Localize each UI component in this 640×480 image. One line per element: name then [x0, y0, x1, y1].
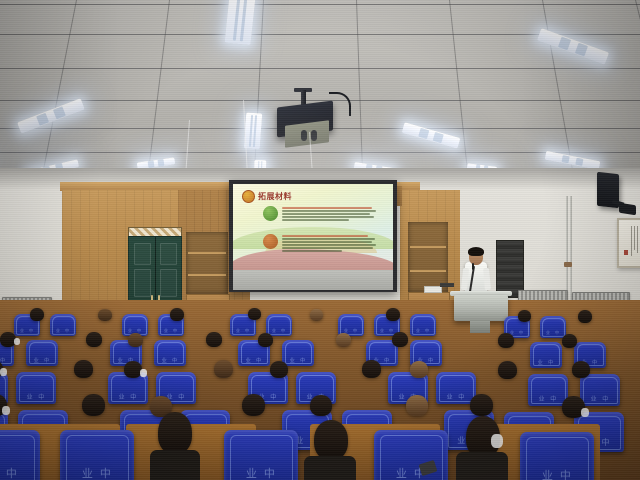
projection-screen-lower — [233, 270, 393, 290]
wall-shelf-niche — [408, 222, 448, 292]
attendee-head — [258, 333, 273, 347]
attendee-head — [310, 309, 323, 321]
attendee-head — [98, 309, 112, 321]
shelf-board — [188, 274, 226, 276]
attendee-torso — [304, 456, 356, 480]
face-mask-icon — [2, 406, 10, 415]
seat-row-front: 业 中 业 中 业 中 业 中 业 中 — [0, 418, 640, 480]
attendee-head — [128, 333, 143, 347]
red-seal-icon — [242, 190, 255, 203]
attendee-head — [572, 361, 590, 378]
seat-embroidery: 业 中 — [374, 465, 448, 480]
attendee-head — [498, 361, 517, 379]
attendee-head — [74, 360, 93, 378]
slide-title: 拓展材料 — [258, 191, 292, 202]
green-circle-icon — [263, 206, 278, 221]
attendee-head — [498, 333, 514, 348]
seat-embroidery: 业 中 — [224, 465, 298, 480]
attendee-head — [158, 412, 192, 454]
seat-embroidery: 业 中 — [60, 465, 134, 480]
door-panel — [160, 243, 177, 265]
attendee-head — [392, 332, 408, 347]
shelf-board — [410, 246, 446, 248]
attendee-head — [386, 308, 400, 321]
attendee-head — [470, 394, 493, 416]
slide-bullet-block — [263, 206, 381, 221]
attendee-head — [578, 310, 592, 323]
seat-embroidery: 业 中 — [0, 465, 40, 480]
attendee-head — [562, 334, 577, 348]
auditorium-seat[interactable]: 业 中 — [60, 430, 134, 480]
shelf-object — [440, 283, 454, 287]
projection-screen: 拓展材料 — [233, 184, 393, 270]
face-mask-icon — [581, 408, 589, 417]
attendee-head — [82, 394, 105, 416]
face-mask-icon — [491, 434, 503, 448]
door-panel — [160, 269, 177, 297]
shelf-box — [424, 286, 442, 293]
slide-bullet-block — [263, 234, 381, 252]
attendee-head — [518, 310, 531, 322]
framed-poster — [617, 218, 640, 268]
door-panel — [134, 269, 151, 297]
attendee-head — [206, 332, 222, 347]
poster-text-line — [631, 226, 632, 256]
pipe-valve — [564, 262, 572, 267]
attendee-torso — [150, 450, 200, 480]
attendee-torso — [456, 452, 508, 480]
poster-seal — [624, 250, 628, 255]
presenter-hair — [468, 247, 484, 256]
poster-text-line — [637, 226, 638, 253]
attendee-head — [30, 308, 44, 321]
auditorium-seat[interactable]: 业 中 — [374, 430, 448, 480]
attendee-head — [86, 332, 102, 347]
auditorium-seat[interactable]: 业 中 — [520, 432, 594, 480]
slide-title-row: 拓展材料 — [242, 190, 292, 203]
suspended-ceiling — [0, 0, 640, 176]
attendee-head — [310, 395, 332, 416]
attendee-head — [242, 394, 265, 416]
attendee-head — [362, 360, 381, 378]
attendee-head — [314, 420, 348, 460]
microphone-icon — [472, 263, 474, 270]
face-mask-icon — [140, 369, 147, 377]
attendee-head — [214, 360, 233, 378]
attendee-head — [248, 308, 261, 320]
attendee-head — [170, 308, 184, 321]
seat-embroidery: 业 中 — [520, 467, 594, 480]
attendee-head — [410, 361, 428, 378]
lecture-hall-photo: 拓展材料 — [0, 0, 640, 480]
wall-shelf-niche — [186, 232, 228, 294]
shelf-board — [410, 270, 446, 272]
face-mask-icon — [14, 338, 20, 345]
shelf-board — [188, 252, 226, 254]
attendee-head — [406, 395, 428, 416]
poster-text-line — [634, 226, 635, 250]
auditorium-seat[interactable]: 业 中 — [224, 430, 298, 480]
slide-text-lines — [282, 206, 378, 221]
auditorium-seat[interactable]: 业 中 — [0, 430, 40, 480]
attendee-head — [270, 361, 288, 378]
face-mask-icon — [0, 368, 7, 376]
slide-text-lines — [282, 234, 378, 252]
door-panel — [134, 243, 151, 265]
attendee-head — [336, 333, 351, 347]
orange-circle-icon — [263, 234, 278, 249]
